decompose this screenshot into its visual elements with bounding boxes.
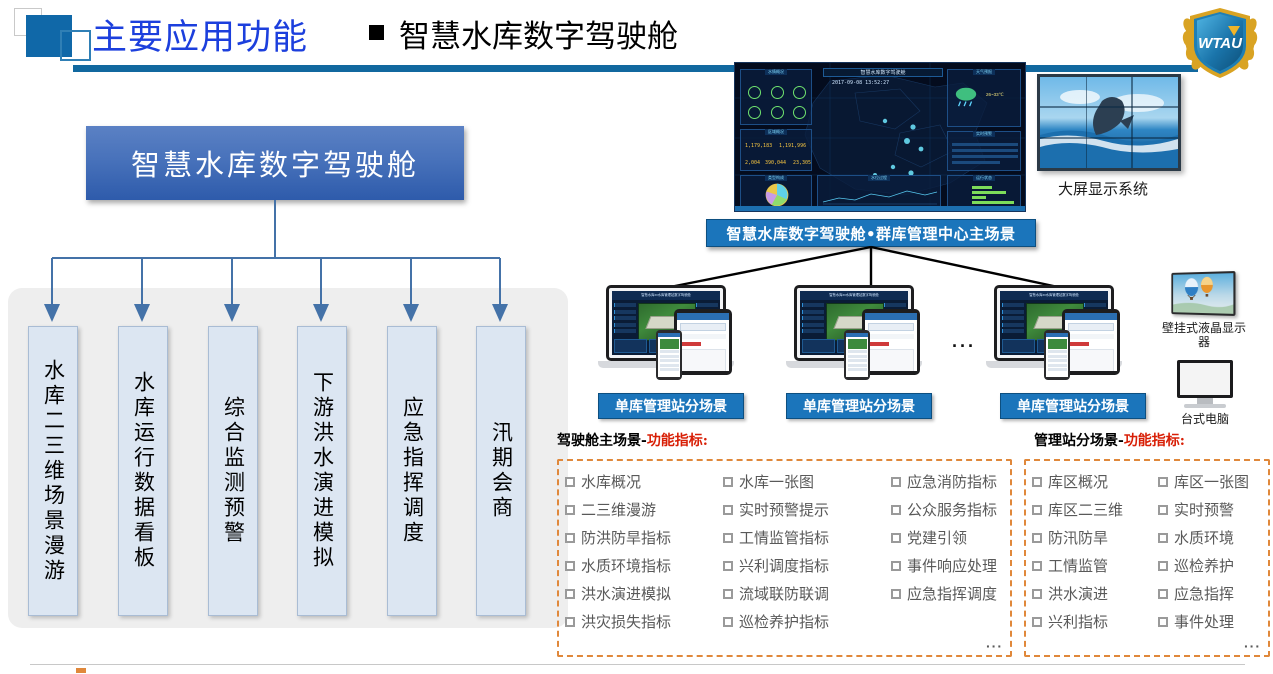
checkbox-icon[interactable] bbox=[565, 561, 575, 571]
footer-divider bbox=[30, 664, 1245, 665]
dashboard-panel-alerts: 实时预警 bbox=[947, 131, 1021, 171]
checklist-item[interactable]: 应急指挥调度 bbox=[891, 580, 1026, 607]
checklist-item[interactable]: 兴利指标 bbox=[1032, 608, 1150, 635]
sub-scene-caption-2[interactable]: 单库管理站分场景 bbox=[786, 393, 932, 419]
checklist-item-label: 洪灾损失指标 bbox=[581, 611, 671, 632]
checklist-item-label: 水质环境指标 bbox=[581, 555, 671, 576]
checklist-item[interactable]: 库区一张图 bbox=[1158, 468, 1273, 495]
flowchart-leaf-4[interactable]: 下游洪水演进模拟 bbox=[297, 326, 347, 616]
checklist-item[interactable]: 实时预警提示 bbox=[723, 496, 883, 523]
checklist-item-label: 工情监管指标 bbox=[739, 527, 829, 548]
checklist-item[interactable]: 防汛防旱 bbox=[1032, 524, 1150, 551]
checklist-main-heading: 驾驶舱主场景-功能指标: bbox=[557, 430, 708, 450]
wall-mounted-lcd-icon bbox=[1171, 271, 1235, 316]
phone-icon bbox=[844, 330, 870, 380]
checklist-item-label: 应急指挥 bbox=[1174, 583, 1234, 604]
dashboard-screenshot: 智慧水库数字驾驶舱 2017-09-08 13:52:27 水情概况 区域概况 … bbox=[734, 62, 1026, 212]
checklist-item[interactable]: 流域联防联调 bbox=[723, 580, 883, 607]
checklist-item-label: 库区概况 bbox=[1048, 471, 1108, 492]
devices-ellipsis: ··· bbox=[952, 336, 976, 357]
checkbox-icon[interactable] bbox=[1158, 505, 1168, 515]
checklist-item[interactable]: 党建引领 bbox=[891, 524, 1026, 551]
checklist-main-box: 水库概况 水库一张图 应急消防指标 二三维漫游 实时预警提示 公众服务指标 防洪… bbox=[557, 459, 1012, 657]
checklist-item-label: 水库一张图 bbox=[739, 471, 814, 492]
logo-square-outline-2 bbox=[60, 30, 91, 61]
checklist-item-label: 防洪防旱指标 bbox=[581, 527, 671, 548]
checklist-item[interactable]: 公众服务指标 bbox=[891, 496, 1026, 523]
checklist-item-label: 党建引领 bbox=[907, 527, 967, 548]
checklist-item-label: 事件处理 bbox=[1174, 611, 1234, 632]
dashboard-stat-a: 1,179,183 bbox=[745, 143, 772, 149]
checklist-station-heading-red: 功能指标: bbox=[1124, 433, 1185, 449]
flowchart-root-label: 智慧水库数字驾驶舱 bbox=[131, 142, 419, 184]
sub-scene-label: 单库管理站分场景 bbox=[1017, 396, 1129, 416]
checklist-item[interactable]: 应急指挥 bbox=[1158, 580, 1273, 607]
checklist-item-empty bbox=[891, 608, 1026, 635]
checkbox-icon[interactable] bbox=[1032, 533, 1042, 543]
checklist-main-heading-black: 驾驶舱主场景- bbox=[557, 433, 647, 449]
checklist-item[interactable]: 工情监管 bbox=[1032, 552, 1150, 579]
checkbox-icon[interactable] bbox=[1158, 561, 1168, 571]
wall-mounted-lcd-label: 壁挂式液晶显示器 bbox=[1160, 321, 1248, 349]
flowchart-leaf-label: 水库运行数据看板 bbox=[133, 371, 154, 571]
checklist-item[interactable]: 事件响应处理 bbox=[891, 552, 1026, 579]
desktop-computer-icon bbox=[1177, 360, 1233, 398]
dashboard-panel-caption: 运行状态 bbox=[973, 175, 995, 181]
checklist-item[interactable]: 洪水演进 bbox=[1032, 580, 1150, 607]
dashboard-timestamp: 2017-09-08 13:52:27 bbox=[832, 80, 889, 86]
header-divider bbox=[73, 65, 1198, 72]
checkbox-icon[interactable] bbox=[1158, 589, 1168, 599]
checkbox-icon[interactable] bbox=[723, 505, 733, 515]
checklist-item[interactable]: 水质环境 bbox=[1158, 524, 1273, 551]
sub-scene-caption-3[interactable]: 单库管理站分场景 bbox=[1000, 393, 1146, 419]
tablet-icon bbox=[1062, 309, 1120, 375]
dashboard-panel-caption: 天气预报 bbox=[973, 69, 995, 75]
tablet-icon bbox=[674, 309, 732, 375]
dashboard-panel-status: 运行状态 bbox=[947, 175, 1021, 209]
checklist-station-heading: 管理站分场景-功能指标: bbox=[1034, 430, 1185, 450]
flowchart-leaf-5[interactable]: 应急指挥调度 bbox=[387, 326, 437, 616]
checklist-station-heading-black: 管理站分场景- bbox=[1034, 433, 1124, 449]
dashboard-panel-caption: 区域概况 bbox=[765, 129, 787, 135]
checkbox-icon[interactable] bbox=[565, 505, 575, 515]
checklist-item-label: 二三维漫游 bbox=[581, 499, 656, 520]
checklist-item[interactable]: 工情监管指标 bbox=[723, 524, 883, 551]
sub-scene-label: 单库管理站分场景 bbox=[615, 396, 727, 416]
flowchart-leaf-label: 汛期会商 bbox=[491, 421, 512, 521]
checklist-item[interactable]: 水库一张图 bbox=[723, 468, 883, 495]
square-bullet-icon bbox=[369, 25, 384, 40]
page-title: 主要应用功能 bbox=[92, 9, 308, 60]
checklist-item[interactable]: 洪灾损失指标 bbox=[565, 608, 715, 635]
sub-scene-label: 单库管理站分场景 bbox=[803, 396, 915, 416]
flowchart-leaf-label: 下游洪水演进模拟 bbox=[312, 371, 333, 571]
flowchart-leaf-label: 综合监测预警 bbox=[223, 396, 244, 546]
dashboard-panel-trend: 水位过程 bbox=[817, 175, 941, 209]
checkbox-icon[interactable] bbox=[565, 617, 575, 627]
dashboard-panel-region-stats: 区域概况 1,179,183 1,191,996 2,004 390,044 2… bbox=[740, 129, 812, 171]
tablet-icon bbox=[862, 309, 920, 375]
checkbox-icon[interactable] bbox=[565, 589, 575, 599]
checklist-item-label: 事件响应处理 bbox=[907, 555, 997, 576]
checkbox-icon[interactable] bbox=[565, 477, 575, 487]
dashboard-panel-type-ratio: 类型构成 bbox=[740, 175, 812, 209]
laptop-screen-title: 智慧水库xx水库管理站数字驾驶舱 bbox=[800, 291, 908, 300]
desktop-computer-foot bbox=[1184, 404, 1226, 408]
checkbox-icon[interactable] bbox=[891, 505, 901, 515]
sub-scene-devices-3: 智慧水库xx水库管理站数字驾驶舱 bbox=[986, 285, 1132, 385]
dashboard-stat-e: 23,305 bbox=[793, 160, 811, 166]
main-scene-banner[interactable]: 智慧水库数字驾驶舱•群库管理中心主场景 bbox=[706, 219, 1036, 247]
checkbox-icon[interactable] bbox=[723, 561, 733, 571]
checklist-item-label: 实时预警提示 bbox=[739, 499, 829, 520]
checkbox-icon[interactable] bbox=[891, 477, 901, 487]
checklist-item[interactable]: 兴利调度指标 bbox=[723, 552, 883, 579]
dashboard-panel-water-overview: 水情概况 bbox=[740, 69, 812, 125]
laptop-screen-title: 智慧水库xx水库管理站数字驾驶舱 bbox=[612, 291, 720, 300]
sub-scene-caption-1[interactable]: 单库管理站分场景 bbox=[598, 393, 744, 419]
phone-icon bbox=[1044, 330, 1070, 380]
checklist-item-label: 兴利调度指标 bbox=[739, 555, 829, 576]
checklist-item-label: 兴利指标 bbox=[1048, 611, 1108, 632]
checkbox-icon[interactable] bbox=[723, 533, 733, 543]
video-wall-label: 大屏显示系统 bbox=[1058, 178, 1148, 199]
main-scene-label: 智慧水库数字驾驶舱•群库管理中心主场景 bbox=[726, 223, 1015, 244]
laptop-screen-title: 智慧水库xx水库管理站数字驾驶舱 bbox=[1000, 291, 1108, 300]
video-wall-display bbox=[1037, 74, 1181, 171]
checkbox-icon[interactable] bbox=[1032, 505, 1042, 515]
checkbox-icon[interactable] bbox=[723, 589, 733, 599]
checklist-item-label: 防汛防旱 bbox=[1048, 527, 1108, 548]
checklist-item[interactable]: 实时预警 bbox=[1158, 496, 1273, 523]
dashboard-stat-d: 390,044 bbox=[765, 160, 786, 166]
checklist-item[interactable]: 事件处理 bbox=[1158, 608, 1273, 635]
flowchart-leaf-6[interactable]: 汛期会商 bbox=[476, 326, 526, 616]
flowchart-leaf-1[interactable]: 水库二三维场景漫游 bbox=[28, 326, 78, 616]
checkbox-icon[interactable] bbox=[1032, 617, 1042, 627]
checklist-item-label: 公众服务指标 bbox=[907, 499, 997, 520]
sub-scene-devices-2: 智慧水库xx水库管理站数字驾驶舱 bbox=[786, 285, 932, 385]
phone-icon bbox=[656, 330, 682, 380]
checklist-item-label: 水库概况 bbox=[581, 471, 641, 492]
checkbox-icon[interactable] bbox=[723, 477, 733, 487]
checklist-item-label: 工情监管 bbox=[1048, 555, 1108, 576]
checkbox-icon[interactable] bbox=[891, 561, 901, 571]
checklist-item[interactable]: 防洪防旱指标 bbox=[565, 524, 715, 551]
checklist-main-heading-red: 功能指标: bbox=[647, 433, 708, 449]
checklist-item[interactable]: 应急消防指标 bbox=[891, 468, 1026, 495]
checklist-item-label: 水质环境 bbox=[1174, 527, 1234, 548]
checklist-item-label: 库区二三维 bbox=[1048, 499, 1123, 520]
checkbox-icon[interactable] bbox=[723, 617, 733, 627]
flowchart-leaf-3[interactable]: 综合监测预警 bbox=[208, 326, 258, 616]
wtau-logo-badge: WTAU bbox=[1176, 2, 1264, 84]
checklist-item-label: 应急指挥调度 bbox=[907, 583, 997, 604]
desktop-computer-label: 台式电脑 bbox=[1164, 410, 1246, 427]
page-subtitle: 智慧水库数字驾驶舱 bbox=[399, 11, 678, 56]
checklist-item-label: 实时预警 bbox=[1174, 499, 1234, 520]
flowchart-leaf-label: 应急指挥调度 bbox=[402, 396, 423, 546]
checklist-item[interactable]: 水质环境指标 bbox=[565, 552, 715, 579]
dashboard-footer-bar bbox=[735, 206, 1025, 211]
checklist-item-label: 库区一张图 bbox=[1174, 471, 1249, 492]
checklist-item[interactable]: 洪水演进模拟 bbox=[565, 580, 715, 607]
footer-accent-mark bbox=[76, 668, 86, 673]
checkbox-icon[interactable] bbox=[565, 533, 575, 543]
checklist-item[interactable]: 库区二三维 bbox=[1032, 496, 1150, 523]
dashboard-weather-temp: 26~33℃ bbox=[986, 92, 1004, 98]
checkbox-icon[interactable] bbox=[891, 589, 901, 599]
checklist-main-more: ··· bbox=[986, 638, 1003, 654]
checkbox-icon[interactable] bbox=[1158, 617, 1168, 627]
checklist-item[interactable]: 巡检养护指标 bbox=[723, 608, 883, 635]
flowchart-leaf-label: 水库二三维场景漫游 bbox=[43, 359, 64, 584]
checklist-item-label: 巡检养护 bbox=[1174, 555, 1234, 576]
checklist-item-label: 流域联防联调 bbox=[739, 583, 829, 604]
flowchart-leaf-2[interactable]: 水库运行数据看板 bbox=[118, 326, 168, 616]
dashboard-panel-caption: 实时预警 bbox=[973, 131, 995, 137]
checkbox-icon[interactable] bbox=[1032, 477, 1042, 487]
checkbox-icon[interactable] bbox=[1032, 561, 1042, 571]
checklist-station-box: 库区概况 库区一张图 库区二三维 实时预警 防汛防旱 水质环境 工情监管 巡检养… bbox=[1024, 459, 1270, 657]
checklist-item[interactable]: 巡检养护 bbox=[1158, 552, 1273, 579]
dashboard-stat-c: 2,004 bbox=[745, 160, 760, 166]
dashboard-panel-caption: 水情概况 bbox=[765, 69, 787, 75]
flowchart-root-node: 智慧水库数字驾驶舱 bbox=[86, 126, 464, 200]
dashboard-panel-weather: 天气预报 26~33℃ bbox=[947, 69, 1021, 127]
sub-scene-devices-1: 智慧水库xx水库管理站数字驾驶舱 bbox=[598, 285, 744, 385]
checkbox-icon[interactable] bbox=[891, 533, 901, 543]
checklist-item-label: 巡检养护指标 bbox=[739, 611, 829, 632]
dashboard-stat-b: 1,191,996 bbox=[779, 143, 806, 149]
dashboard-title-bar: 智慧水库数字驾驶舱 bbox=[823, 68, 943, 77]
checkbox-icon[interactable] bbox=[1158, 477, 1168, 487]
checklist-item[interactable]: 水库概况 bbox=[565, 468, 715, 495]
checklist-item-label: 应急消防指标 bbox=[907, 471, 997, 492]
checklist-item[interactable]: 二三维漫游 bbox=[565, 496, 715, 523]
checklist-item-label: 洪水演进 bbox=[1048, 583, 1108, 604]
checklist-station-more: ··· bbox=[1244, 638, 1261, 654]
checklist-item-label: 洪水演进模拟 bbox=[581, 583, 671, 604]
dashboard-panel-caption: 水位过程 bbox=[868, 175, 890, 181]
checkbox-icon[interactable] bbox=[1158, 533, 1168, 543]
checkbox-icon[interactable] bbox=[1032, 589, 1042, 599]
checklist-item[interactable]: 库区概况 bbox=[1032, 468, 1150, 495]
wtau-text: WTAU bbox=[1198, 35, 1243, 52]
